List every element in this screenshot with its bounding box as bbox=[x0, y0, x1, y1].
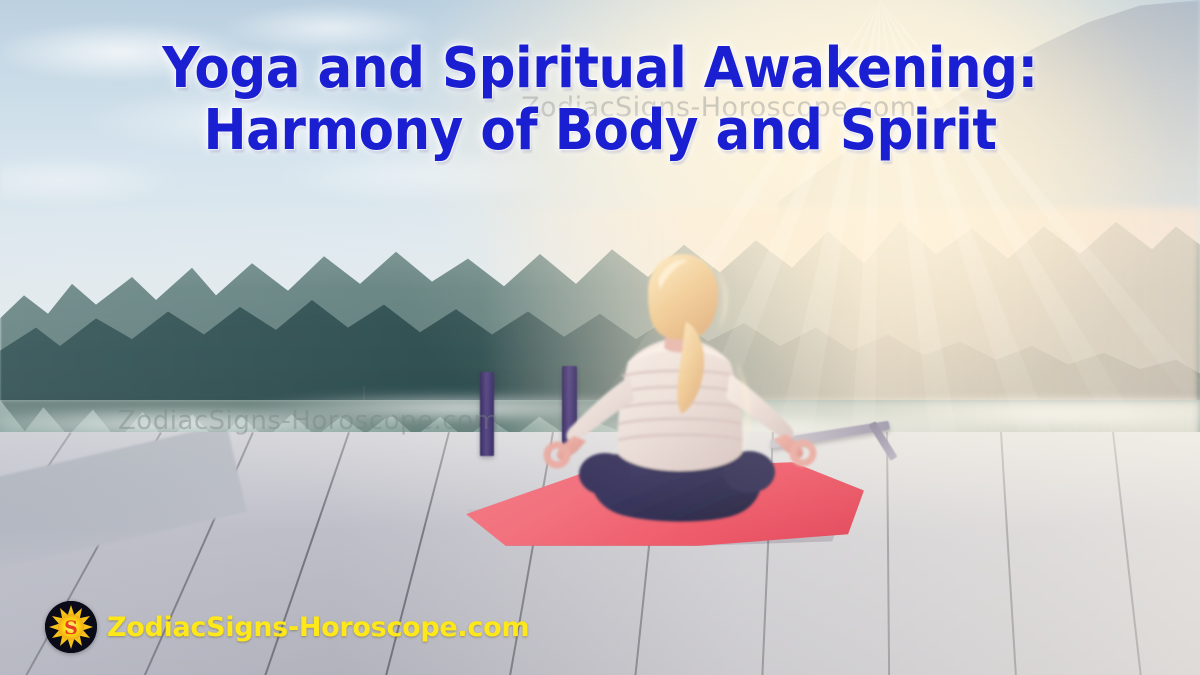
badge-letter: S bbox=[64, 617, 78, 639]
site-logo-text: ZodiacSigns-Horoscope.com bbox=[107, 614, 529, 641]
dock-edge bbox=[0, 432, 247, 570]
dock-post-left bbox=[480, 372, 494, 456]
promotional-banner-image: ZodiacSigns-Horoscope.com Yoga and Spiri… bbox=[0, 0, 1200, 675]
meditating-woman bbox=[530, 250, 830, 540]
sun-burst-glyph: S bbox=[45, 601, 97, 653]
sun-burst-icon: S bbox=[45, 601, 97, 653]
site-logo[interactable]: S ZodiacSigns-Horoscope.com bbox=[45, 601, 529, 653]
